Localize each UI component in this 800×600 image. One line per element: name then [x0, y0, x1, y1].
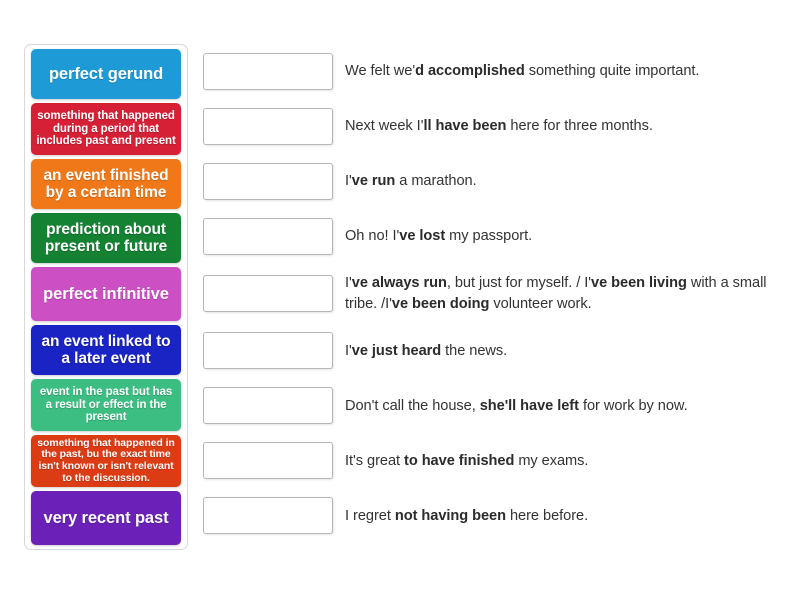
sentence-highlight: not having been	[395, 508, 506, 524]
draggable-tile-label: prediction about present or future	[36, 221, 176, 256]
drop-zone-6[interactable]	[203, 387, 333, 424]
draggable-tile-3[interactable]: prediction about present or future	[31, 213, 181, 263]
sentence-text: I've just heard the news.	[345, 341, 507, 362]
drop-zone-2[interactable]	[203, 163, 333, 200]
answer-row: It's great to have finished my exams.	[203, 442, 773, 479]
sentence-plain: We felt we'	[345, 63, 415, 79]
draggable-tile-label: event in the past but has a result or ef…	[36, 386, 176, 425]
draggable-tile-label: something that happened during a period …	[36, 110, 176, 149]
answer-row: Don't call the house, she'll have left f…	[203, 387, 773, 424]
draggable-tiles-tray: perfect gerundsomething that happened du…	[24, 44, 188, 550]
draggable-tile-label: perfect gerund	[49, 65, 163, 83]
sentence-plain: I'	[345, 275, 352, 291]
draggable-tile-8[interactable]: very recent past	[31, 491, 181, 545]
sentence-text: I regret not having been here before.	[345, 506, 588, 527]
sentence-text: I've run a marathon.	[345, 171, 477, 192]
sentence-plain: It's great	[345, 453, 404, 469]
drop-zone-7[interactable]	[203, 442, 333, 479]
draggable-tile-6[interactable]: event in the past but has a result or ef…	[31, 379, 181, 431]
sentence-plain: I regret	[345, 508, 395, 524]
sentence-plain: Don't call the house,	[345, 398, 480, 414]
drop-zone-3[interactable]	[203, 218, 333, 255]
draggable-tile-label: very recent past	[44, 509, 169, 527]
sentence-text: Oh no! I've lost my passport.	[345, 226, 532, 247]
draggable-tile-label: an event finished by a certain time	[36, 167, 176, 202]
sentence-plain: the news.	[441, 343, 507, 359]
sentence-text: It's great to have finished my exams.	[345, 451, 588, 472]
answer-row: I've always run, but just for myself. / …	[203, 273, 773, 314]
drop-zone-1[interactable]	[203, 108, 333, 145]
drop-zone-0[interactable]	[203, 53, 333, 90]
drop-zone-8[interactable]	[203, 497, 333, 534]
sentence-plain: Oh no! I'	[345, 228, 399, 244]
sentence-plain: here for three months.	[506, 118, 652, 134]
sentence-highlight: she'll have left	[480, 398, 579, 414]
sentence-highlight: ve lost	[399, 228, 445, 244]
answer-row: Oh no! I've lost my passport.	[203, 218, 773, 255]
sentence-plain: I'	[345, 343, 352, 359]
draggable-tile-label: an event linked to a later event	[36, 333, 176, 368]
draggable-tile-7[interactable]: something that happened in the past, bu …	[31, 435, 181, 487]
draggable-tile-2[interactable]: an event finished by a certain time	[31, 159, 181, 209]
sentence-highlight: ve always run	[352, 275, 447, 291]
sentence-text: We felt we'd accomplished something quit…	[345, 61, 699, 82]
draggable-tile-label: something that happened in the past, bu …	[36, 438, 176, 485]
sentence-text: Next week I'll have been here for three …	[345, 116, 653, 137]
draggable-tile-4[interactable]: perfect infinitive	[31, 267, 181, 321]
draggable-tile-0[interactable]: perfect gerund	[31, 49, 181, 99]
sentence-plain: Next week I'	[345, 118, 423, 134]
sentence-text: Don't call the house, she'll have left f…	[345, 396, 688, 417]
drop-zone-4[interactable]	[203, 275, 333, 312]
sentence-highlight: to have finished	[404, 453, 514, 469]
answer-rows-list: We felt we'd accomplished something quit…	[203, 53, 773, 534]
sentence-highlight: d accomplished	[415, 63, 525, 79]
draggable-tile-1[interactable]: something that happened during a period …	[31, 103, 181, 155]
answer-row: We felt we'd accomplished something quit…	[203, 53, 773, 90]
answer-row: I've just heard the news.	[203, 332, 773, 369]
draggable-tile-label: perfect infinitive	[43, 285, 169, 303]
sentence-highlight: ll have been	[423, 118, 506, 134]
sentence-plain: for work by now.	[579, 398, 688, 414]
sentence-highlight: ve just heard	[352, 343, 441, 359]
answer-row: Next week I'll have been here for three …	[203, 108, 773, 145]
sentence-highlight: ve run	[352, 173, 396, 189]
sentence-plain: here before.	[506, 508, 588, 524]
sentence-plain: a marathon.	[395, 173, 476, 189]
sentence-plain: my exams.	[514, 453, 588, 469]
drop-zone-5[interactable]	[203, 332, 333, 369]
sentence-plain: , but just for myself. / I'	[447, 275, 591, 291]
sentence-plain: volunteer work.	[489, 296, 591, 312]
sentence-text: I've always run, but just for myself. / …	[345, 273, 773, 314]
answer-row: I regret not having been here before.	[203, 497, 773, 534]
sentence-plain: my passport.	[445, 228, 532, 244]
sentence-plain: something quite important.	[525, 63, 700, 79]
draggable-tile-5[interactable]: an event linked to a later event	[31, 325, 181, 375]
sentence-plain: I'	[345, 173, 352, 189]
sentence-highlight: ve been living	[591, 275, 687, 291]
answer-row: I've run a marathon.	[203, 163, 773, 200]
sentence-highlight: ve been doing	[392, 296, 489, 312]
